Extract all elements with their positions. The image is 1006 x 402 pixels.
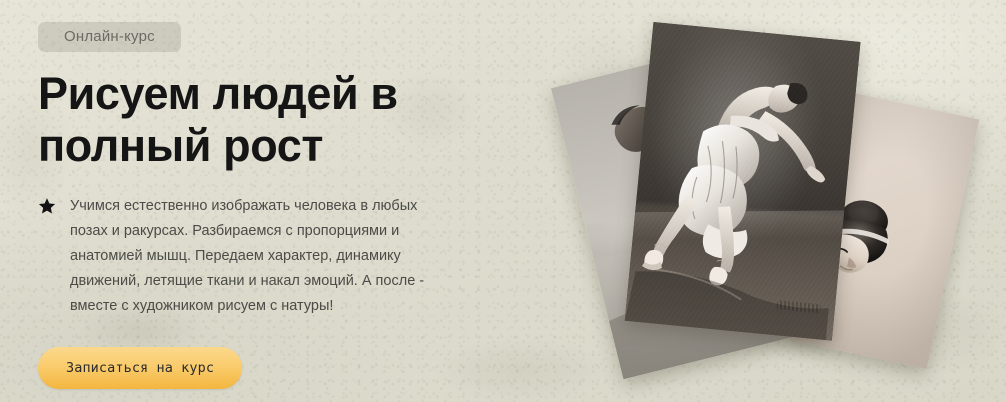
hero-description: Учимся естественно изображать человека в…: [70, 194, 453, 319]
hero-copy-column: Онлайн-курс Рисуем людей в полный рост У…: [38, 22, 508, 389]
hero-bullet: Учимся естественно изображать человека в…: [38, 194, 453, 319]
pencil-drawing-ballerina: Карандашный рисунок балерины в наклоне: [625, 22, 861, 341]
enroll-button[interactable]: Записаться на курс: [38, 347, 242, 389]
page-title: Рисуем людей в полный рост: [38, 68, 458, 172]
artwork-collage: Карандашный рисунок головы балерины: [545, 0, 1006, 402]
star-icon: [38, 197, 56, 215]
pencil-hatching-texture: [625, 22, 861, 341]
course-hero-banner: Карандашный рисунок головы балерины: [0, 0, 1006, 402]
course-type-badge: Онлайн-курс: [38, 22, 181, 52]
